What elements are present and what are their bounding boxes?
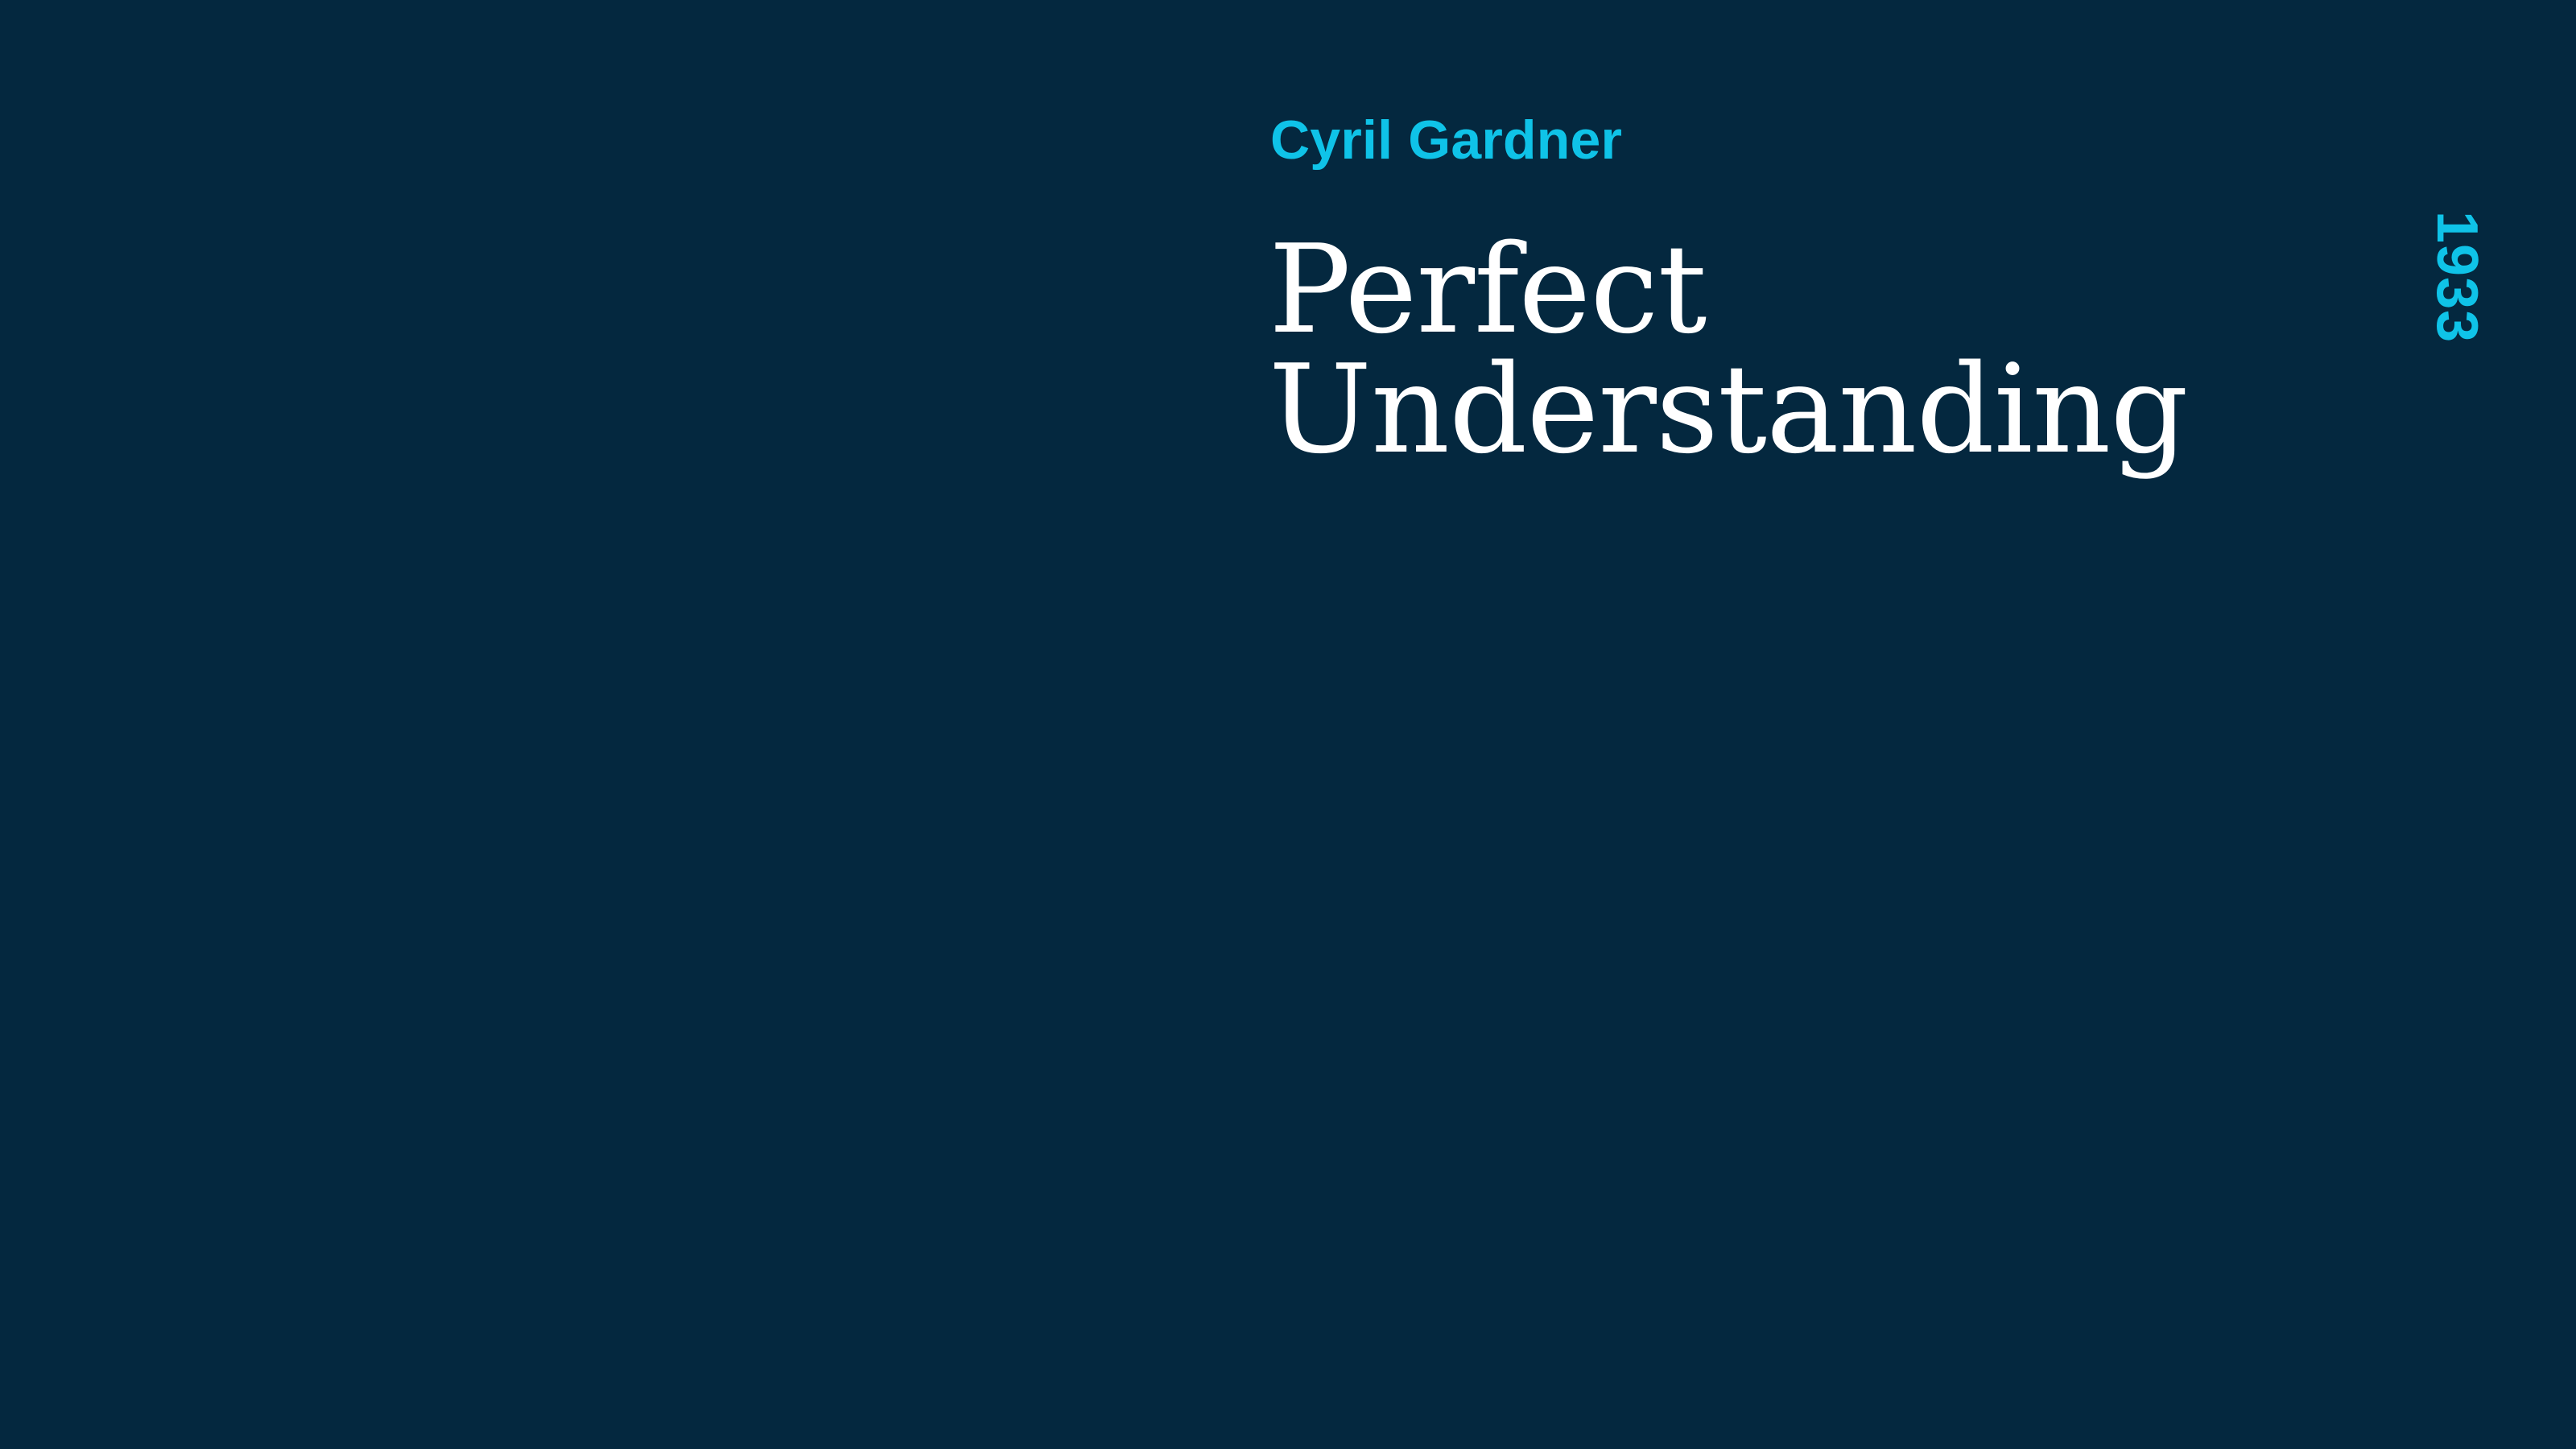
text-block: Cyril Gardner Perfect Understanding — [1269, 113, 2315, 470]
page-title: Perfect Understanding — [1269, 230, 2315, 470]
title-card: Cyril Gardner Perfect Understanding 1933 — [0, 0, 2576, 1449]
year-label: 1933 — [2428, 211, 2486, 343]
author-name: Cyril Gardner — [1270, 113, 2315, 167]
year-container: 1933 — [2428, 211, 2516, 436]
